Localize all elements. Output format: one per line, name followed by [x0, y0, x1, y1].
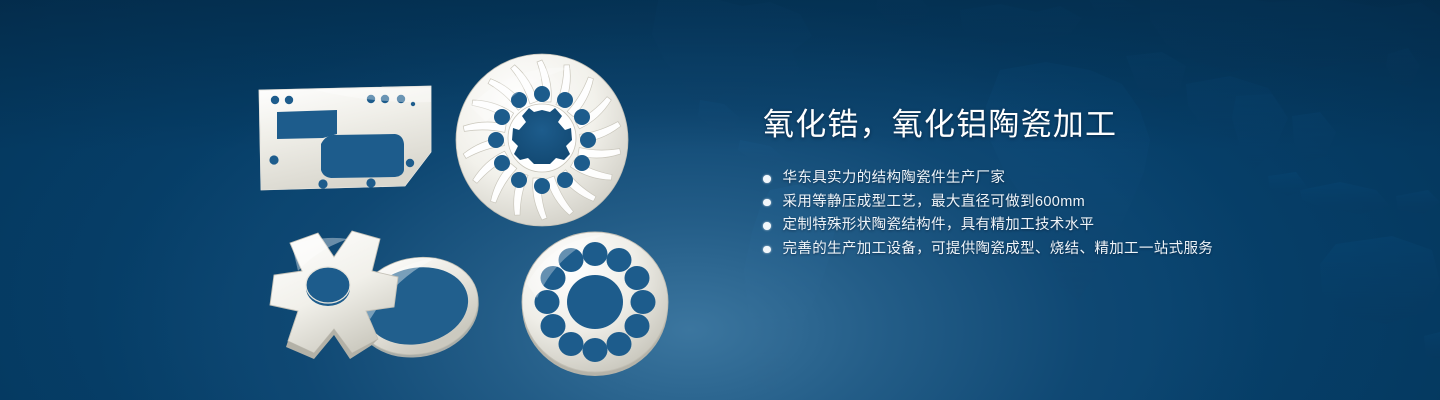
bullet-dot-icon	[763, 199, 771, 207]
list-item-label: 采用等静压成型工艺，最大直径可做到600mm	[783, 191, 1086, 215]
list-item-label: 完善的生产加工设备，可提供陶瓷成型、烧结、精加工一站式服务	[783, 238, 1214, 262]
list-item: 完善的生产加工设备，可提供陶瓷成型、烧结、精加工一站式服务	[763, 238, 1303, 262]
ceramic-cross-ring-svg	[248, 225, 513, 380]
ceramic-cross-and-ring	[248, 225, 513, 380]
product-photo-group	[0, 0, 720, 400]
bullet-dot-icon	[763, 246, 771, 254]
bullet-dot-icon	[763, 175, 771, 183]
list-item: 定制特殊形状陶瓷结构件，具有精加工技术水平	[763, 214, 1303, 238]
feature-list: 华东具实力的结构陶瓷件生产厂家 采用等静压成型工艺，最大直径可做到600mm 定…	[763, 167, 1303, 261]
list-item: 采用等静压成型工艺，最大直径可做到600mm	[763, 191, 1303, 215]
ceramic-perforated-ring-disc	[515, 228, 675, 378]
bullet-dot-icon	[763, 222, 771, 230]
ceramic-hole-disc-svg	[515, 228, 675, 378]
ceramic-impeller-svg	[452, 50, 632, 230]
list-item-label: 定制特殊形状陶瓷结构件，具有精加工技术水平	[783, 214, 1095, 238]
list-item-label: 华东具实力的结构陶瓷件生产厂家	[783, 167, 1006, 191]
banner-copy: 氧化锆，氧化铝陶瓷加工 华东具实力的结构陶瓷件生产厂家 采用等静压成型工艺，最大…	[763, 105, 1303, 261]
hero-banner: 氧化锆，氧化铝陶瓷加工 华东具实力的结构陶瓷件生产厂家 采用等静压成型工艺，最大…	[0, 0, 1440, 400]
ceramic-flat-plate	[255, 82, 435, 197]
list-item: 华东具实力的结构陶瓷件生产厂家	[763, 167, 1303, 191]
page-title: 氧化锆，氧化铝陶瓷加工	[763, 105, 1303, 145]
ceramic-impeller-disc	[452, 50, 632, 230]
ceramic-flat-plate-svg	[255, 82, 435, 197]
